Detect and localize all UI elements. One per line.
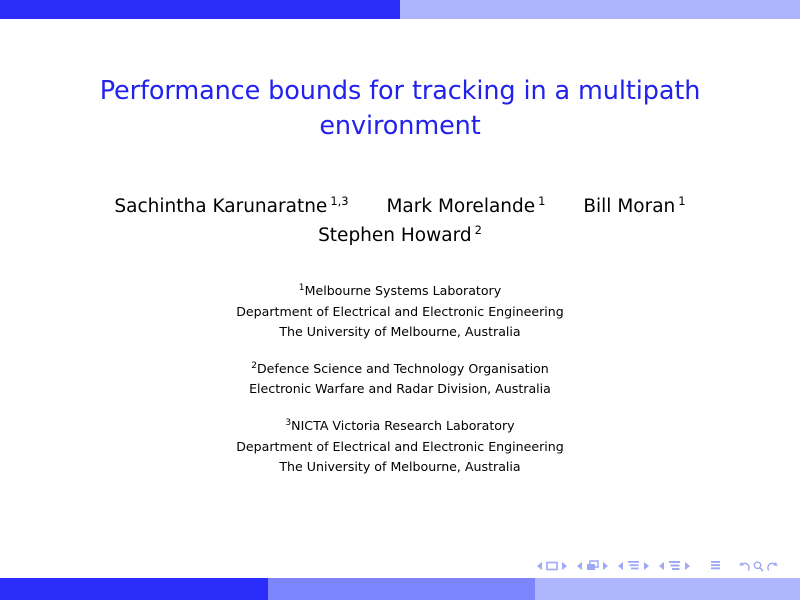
affiliation-text: Melbourne Systems Laboratory — [305, 283, 502, 298]
author-name: Stephen Howard — [318, 225, 472, 246]
triangle-right-icon[interactable] — [561, 562, 567, 570]
author-entry: Mark Morelande1 — [386, 193, 545, 222]
author-row-primary: Sachintha Karunaratne1,3 Mark Morelande1… — [0, 193, 800, 222]
author-name: Sachintha Karunaratne — [114, 197, 327, 218]
triangle-right-icon[interactable] — [684, 562, 690, 570]
affiliation-line: Department of Electrical and Electronic … — [0, 437, 800, 458]
frame-navigation-group[interactable] — [575, 560, 609, 572]
presentation-title: Performance bounds for tracking in a mul… — [0, 19, 800, 144]
triangle-right-icon[interactable] — [643, 562, 649, 570]
header-bar-dark-segment — [0, 0, 400, 19]
history-navigation-group[interactable] — [737, 561, 779, 572]
slide-content: Performance bounds for tracking in a mul… — [0, 19, 800, 578]
footer-bar-mid-segment — [268, 578, 535, 600]
author-entry: Sachintha Karunaratne1,3 — [114, 193, 348, 222]
header-bar-light-segment — [400, 0, 800, 19]
slide-navigation-group[interactable] — [535, 561, 568, 571]
section-lines-icon[interactable] — [668, 560, 681, 572]
author-list: Sachintha Karunaratne1,3 Mark Morelande1… — [0, 193, 800, 251]
affiliation-line: 2Defence Science and Technology Organisa… — [0, 359, 800, 380]
subsection-lines-icon[interactable] — [627, 560, 640, 572]
affiliation-line: The University of Melbourne, Australia — [0, 322, 800, 343]
affiliation-line: Electronic Warfare and Radar Division, A… — [0, 379, 800, 400]
affiliation-text: NICTA Victoria Research Laboratory — [291, 418, 514, 433]
footer-decoration-bar — [0, 578, 800, 600]
section-navigation-group[interactable] — [657, 560, 691, 572]
author-name: Mark Morelande — [386, 197, 535, 218]
subsection-navigation-group[interactable] — [616, 560, 650, 572]
triangle-left-icon[interactable] — [659, 562, 665, 570]
affiliation-line: 1Melbourne Systems Laboratory — [0, 281, 800, 302]
author-name: Bill Moran — [583, 197, 675, 218]
slide-square-icon[interactable] — [546, 561, 558, 571]
affiliation-block: 2Defence Science and Technology Organisa… — [0, 359, 800, 400]
redo-arrow-icon[interactable] — [767, 561, 778, 572]
triangle-right-icon[interactable] — [602, 562, 608, 570]
triangle-left-icon[interactable] — [577, 562, 583, 570]
undo-arrow-icon[interactable] — [739, 561, 750, 572]
author-affiliation-mark: 1,3 — [330, 194, 348, 208]
author-entry: Bill Moran1 — [583, 193, 685, 222]
document-lines-icon[interactable] — [709, 560, 722, 572]
author-affiliation-mark: 1 — [538, 194, 545, 208]
affiliation-line: 3NICTA Victoria Research Laboratory — [0, 416, 800, 437]
triangle-left-icon[interactable] — [537, 562, 543, 570]
search-icon[interactable] — [753, 561, 764, 572]
footer-bar-dark-segment — [0, 578, 268, 600]
triangle-left-icon[interactable] — [618, 562, 624, 570]
affiliation-block: 1Melbourne Systems Laboratory Department… — [0, 281, 800, 343]
frame-stack-icon[interactable] — [586, 560, 599, 572]
document-navigation-group[interactable] — [707, 560, 723, 572]
affiliation-line: The University of Melbourne, Australia — [0, 457, 800, 478]
author-row-secondary: Stephen Howard2 — [0, 222, 800, 251]
author-affiliation-mark: 1 — [678, 194, 685, 208]
header-decoration-bar — [0, 0, 800, 19]
affiliation-line: Department of Electrical and Electronic … — [0, 302, 800, 323]
affiliation-text: Defence Science and Technology Organisat… — [257, 361, 549, 376]
author-entry: Stephen Howard2 — [318, 222, 482, 251]
author-affiliation-mark: 2 — [475, 223, 482, 237]
affiliation-list: 1Melbourne Systems Laboratory Department… — [0, 281, 800, 478]
beamer-navigation-symbols[interactable] — [535, 558, 786, 574]
affiliation-block: 3NICTA Victoria Research Laboratory Depa… — [0, 416, 800, 478]
footer-bar-light-segment — [535, 578, 800, 600]
